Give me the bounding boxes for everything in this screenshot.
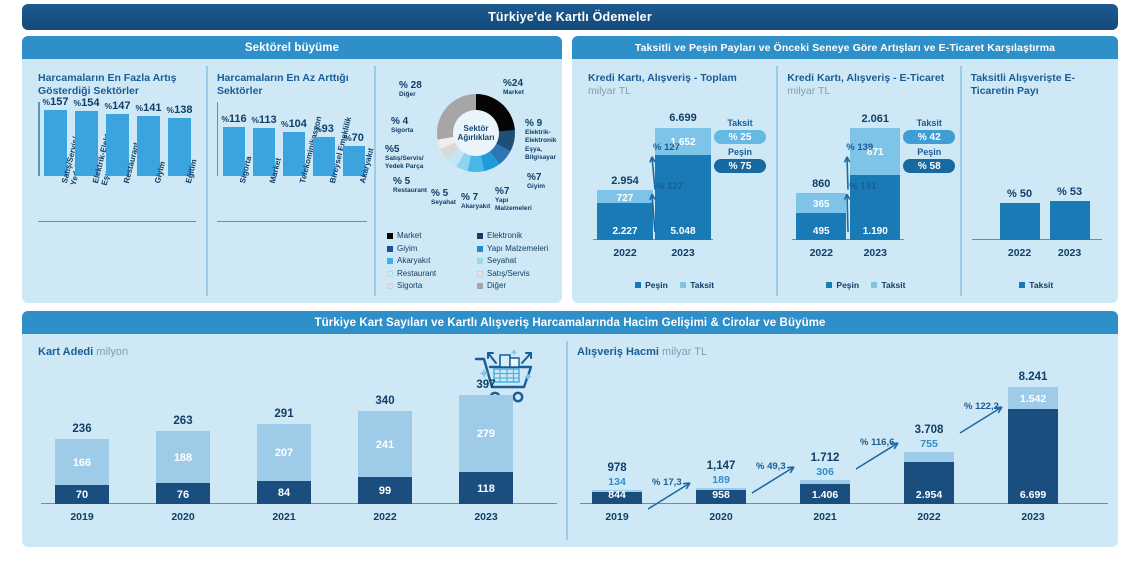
segment-label-credit: 958 (696, 489, 746, 501)
donut-legend-item: Sigorta (387, 280, 477, 293)
percent-sign: % (344, 133, 352, 143)
badge-caption-taksit: Taksit (711, 118, 769, 129)
total-label: 8.241 (998, 371, 1068, 383)
legend-taksit: Taksit (680, 280, 714, 290)
legend-swatch (477, 271, 483, 277)
donut-legend-item: Diğer (477, 280, 567, 293)
percent-sign: % (314, 124, 322, 134)
donut-legend-item: Seyahat (477, 255, 567, 268)
segment-label-credit: 70 (55, 489, 109, 501)
badge-value-taksit: % 25 (714, 130, 766, 144)
card-shopping-volume-title: Alışveriş Hacmi milyar TL (577, 346, 1107, 359)
x-tick-label: 2023 (844, 247, 906, 259)
percent-sign: % (251, 115, 259, 125)
card-sector-weights: Sektör Ağırlıkları %24Market% 9Elektrik-… (374, 66, 555, 296)
shopping-volume-unit: milyar TL (662, 346, 707, 358)
badge-caption-pesin: Peşin (711, 147, 769, 158)
percent-sign: % (74, 98, 82, 108)
bottom-band-title: Türkiye Kart Sayıları ve Kartlı Alışveri… (22, 311, 1118, 334)
credit-ecom-title-text: Kredi Kartı, Alışveriş - E-Ticaret (787, 72, 944, 84)
credit-total-title-text: Kredi Kartı, Alışveriş - Toplam (588, 72, 737, 84)
donut-legend-label: Seyahat (487, 255, 516, 268)
card-most-increase-title: Harcamaların En Fazla Artış Gösterdiği S… (38, 72, 194, 98)
donut-legend-label: Restaurant (397, 268, 436, 281)
card-count-unit: milyon (96, 346, 128, 358)
card-least-increase: Harcamaların En Az Arttığı Sektörler %11… (206, 66, 368, 296)
segment-label-credit: 99 (358, 485, 412, 497)
donut-label-value: % 7 (461, 192, 478, 203)
x-tick-label: 2019 (578, 511, 656, 523)
legend-swatch (477, 258, 483, 264)
segment-label-debit: 207 (257, 447, 311, 459)
x-tick-label: 2019 (43, 511, 121, 523)
segment-label-pesin: 495 (796, 226, 846, 237)
segment-label-credit: 118 (459, 483, 513, 495)
total-label: 340 (350, 395, 420, 407)
total-label: 2.954 (591, 175, 659, 187)
bar-value-label: %138 (159, 104, 200, 116)
legend-swatch (477, 246, 483, 252)
chart-least-increase: %116Sigorta%113Market%104Telekominikasyo… (217, 102, 367, 222)
y-axis (38, 102, 40, 176)
growth-label: % 17,3 (652, 477, 682, 488)
bottom-row: Türkiye Kart Sayıları ve Kartlı Alışveri… (22, 311, 1118, 547)
total-label: 6.699 (649, 112, 717, 124)
card-least-increase-title: Harcamaların En Az Arttığı Sektörler (217, 72, 362, 98)
shopping-volume-title-text: Alışveriş Hacmi (577, 346, 659, 358)
sectoral-growth-block: Sektörel büyüme Harcamaların En Fazla Ar… (22, 36, 562, 303)
donut-legend-label: Diğer (487, 280, 506, 293)
segment-label-debit: 241 (358, 439, 412, 451)
segment-label-debit: 755 (904, 438, 954, 450)
card-credit-ecommerce-title: Kredi Kartı, Alışveriş - E-Ticaret milya… (787, 72, 947, 98)
growth-label: % 116,6 (860, 437, 894, 448)
donut-legend-item: Restaurant (387, 268, 477, 281)
segment-label-credit: 844 (592, 489, 642, 501)
card-card-count: Kart Adedi milyon (29, 341, 560, 540)
donut-label-name: Seyahat (431, 199, 456, 208)
donut-label-name: Diğer (399, 91, 422, 100)
total-label: 1,147 (686, 460, 756, 472)
donut-label: % 5Seyahat (431, 188, 456, 207)
percent-sign: % (105, 101, 113, 111)
x-tick-label: 2023 (649, 247, 717, 259)
segment-label-debit: 1.542 (1008, 393, 1058, 405)
total-label: 1.712 (790, 452, 860, 464)
x-tick-label: 2023 (994, 511, 1072, 523)
x-axis (38, 221, 196, 223)
donut-legend-label: Giyim (397, 243, 417, 256)
legend-swatch (387, 246, 393, 252)
bottom-body: Kart Adedi milyon (22, 334, 1118, 547)
card-shopping-volume: Alışveriş Hacmi milyar TL 84413497820199… (566, 341, 1111, 540)
legend-credit-ecommerce: Peşin Taksit (778, 280, 953, 290)
dashboard-title: Türkiye'de Kartlı Ödemeler (22, 4, 1118, 30)
growth-label-pesin: % 127 (656, 181, 683, 192)
donut-label: %24Market (503, 78, 524, 97)
donut-legend-item: Market (387, 230, 477, 243)
donut-label-name: Restaurant (393, 187, 427, 196)
badge-caption-taksit-2: Taksit (900, 118, 958, 129)
total-label: 860 (790, 178, 852, 190)
card-count-title-text: Kart Adedi (38, 346, 93, 358)
percent-sign: % (281, 119, 289, 129)
donut-label-name: Sigorta (391, 127, 413, 136)
x-tick-label: 2021 (245, 511, 323, 523)
legend-pesin-2: Peşin (826, 280, 859, 290)
segment-label-debit: 134 (592, 476, 642, 488)
card-ecommerce-share-title: Taksitli Alışverişte E-Ticaretin Payı (971, 72, 1105, 98)
top-row: Sektörel büyüme Harcamaların En Fazla Ar… (22, 36, 1118, 303)
donut-center-label: Sektör Ağırlıkları (453, 110, 499, 156)
x-tick-label: 2020 (682, 511, 760, 523)
total-label: 291 (249, 408, 319, 420)
card-ecommerce-share: Taksitli Alışverişte E-Ticaretin Payı % … (960, 66, 1111, 296)
credit-ecom-unit: milyar TL (787, 85, 830, 97)
donut-label-name: Satış/Servis/Yedek Parça (385, 155, 424, 172)
donut-label-value: % 5 (431, 188, 448, 199)
donut-label: % 7Akaryakıt (461, 192, 490, 211)
donut-legend-label: Sigorta (397, 280, 422, 293)
card-most-increase: Harcamaların En Fazla Artış Gösterdiği S… (29, 66, 200, 296)
percent-sign: % (136, 103, 144, 113)
credit-total-badges: Taksit % 25 Peşin % 75 (711, 118, 769, 176)
badge-value-pesin: % 75 (714, 159, 766, 173)
badge-caption-pesin-2: Peşin (900, 147, 958, 158)
card-credit-total-title: Kredi Kartı, Alışveriş - Toplam milyar T… (588, 72, 764, 98)
donut-legend-item: Giyim (387, 243, 477, 256)
chart-sector-weights: Sektör Ağırlıkları %24Market% 9Elektrik-… (385, 72, 565, 304)
legend-taksit-2: Taksit (871, 280, 905, 290)
donut-legend-item: Akaryakıt (387, 255, 477, 268)
x-tick-label: 2020 (144, 511, 222, 523)
segment-label-debit: 188 (156, 452, 210, 464)
donut-label-value: % 5 (393, 176, 410, 187)
donut-label: % 4Sigorta (391, 116, 413, 135)
x-tick-label: 2021 (786, 511, 864, 523)
x-tick-label: 2022 (994, 247, 1046, 259)
chart-credit-total: 2.2277272.95420225.0481.6526.6992023% 12… (593, 114, 713, 266)
growth-label: % 49,3 (756, 461, 786, 472)
donut-legend: MarketElektronikGiyimYapı MalzemeleriAka… (387, 230, 567, 293)
segment-label-pesin: 5.048 (655, 226, 711, 237)
legend-swatch (387, 271, 393, 277)
segment-label-debit: 166 (55, 457, 109, 469)
growth-label-taksit: % 127 (653, 142, 680, 153)
growth-label: % 122,2 (964, 401, 999, 412)
donut-label-value: %7 (527, 172, 541, 183)
donut-label-name: Akaryakıt (461, 203, 490, 212)
percent-sign: % (43, 97, 51, 107)
legend-swatch (387, 283, 393, 289)
badge-value-taksit-2: % 42 (903, 130, 955, 144)
growth-label-pesin: % 141 (849, 181, 876, 192)
total-label: 236 (47, 423, 117, 435)
donut-legend-label: Akaryakıt (397, 255, 430, 268)
installment-block: Taksitli ve Peşin Payları ve Önceki Sene… (572, 36, 1118, 303)
x-axis (217, 221, 367, 223)
donut-label-name: Market (503, 89, 524, 98)
legend-swatch (387, 233, 393, 239)
donut-label-value: %7 (495, 186, 509, 197)
legend-swatch (387, 258, 393, 264)
bar (1000, 203, 1040, 240)
percent-sign: % (221, 114, 229, 124)
donut-label: % 9Elektrik-ElektronikEşya,Bilgisayar (525, 118, 556, 163)
donut-label: %7YapıMalzemeleri (495, 186, 532, 214)
donut-label-name: Elektrik-ElektronikEşya,Bilgisayar (525, 129, 556, 163)
chart-card-count: 7016623620197618826320208420729120219924… (41, 383, 557, 528)
x-tick-label: 2022 (890, 511, 968, 523)
donut-legend-label: Satış/Servis (487, 268, 530, 281)
card-credit-total: Kredi Kartı, Alışveriş - Toplam milyar T… (579, 66, 770, 296)
bar-value-label: % 53 (1044, 186, 1096, 198)
donut-center-line1: Sektör (464, 124, 489, 134)
donut-legend-label: Yapı Malzemeleri (487, 243, 548, 256)
legend-pesin: Peşin (635, 280, 668, 290)
segment-label-credit: 76 (156, 489, 210, 501)
bar (1050, 201, 1090, 240)
legend-taksit-3: Taksit (1019, 280, 1053, 290)
bar-value-label: % 50 (994, 188, 1046, 200)
donut-label-value: % 4 (391, 116, 408, 127)
legend-ecommerce-share: Taksit (962, 280, 1111, 290)
segment-label-debit: 279 (459, 428, 513, 440)
legend-swatch (477, 233, 483, 239)
segment-label-credit: 2.954 (904, 489, 954, 501)
donut-center-line2: Ağırlıkları (458, 133, 495, 143)
segment-label-pesin: 1.190 (850, 226, 900, 237)
dashboard-page: Türkiye'de Kartlı Ödemeler Sektörel büyü… (0, 0, 1140, 570)
segment-label-debit: 189 (696, 474, 746, 486)
bar-segment-debit (904, 452, 954, 463)
sectoral-band-title: Sektörel büyüme (22, 36, 562, 59)
donut-label-name: YapıMalzemeleri (495, 197, 532, 214)
legend-credit-total: Peşin Taksit (579, 280, 770, 290)
credit-ecom-badges: Taksit % 42 Peşin % 58 (900, 118, 958, 176)
donut-label: % 5Restaurant (393, 176, 427, 195)
total-label: 3.708 (894, 424, 964, 436)
legend-swatch (477, 283, 483, 289)
donut-label-value: % 28 (399, 80, 422, 91)
segment-label-pesin: 2.227 (597, 226, 653, 237)
donut-label-value: % 9 (525, 118, 542, 129)
total-label: 397 (451, 379, 521, 391)
donut-label-value: %5 (385, 144, 399, 155)
total-label: 263 (148, 415, 218, 427)
segment-label-taksit: 365 (796, 199, 846, 210)
chart-credit-ecommerce: 49536586020221.1908712.0612023% 141% 139 (792, 114, 904, 266)
chart-ecommerce-share: % 502022% 532023 (972, 114, 1102, 266)
donut-label-value: %24 (503, 78, 523, 89)
donut-legend-label: Market (397, 230, 421, 243)
badge-value-pesin-2: % 58 (903, 159, 955, 173)
donut-legend-item: Yapı Malzemeleri (477, 243, 567, 256)
segment-label-credit: 6.699 (1008, 489, 1058, 501)
x-tick-label: 2023 (447, 511, 525, 523)
x-tick-label: 2022 (346, 511, 424, 523)
percent-sign: % (167, 105, 175, 115)
segment-label-credit: 1.406 (800, 489, 850, 501)
donut-label: % 28Diğer (399, 80, 422, 99)
donut-legend-item: Elektronik (477, 230, 567, 243)
donut-legend-label: Elektronik (487, 230, 522, 243)
segment-label-credit: 84 (257, 487, 311, 499)
donut-legend-item: Satış/Servis (477, 268, 567, 281)
segment-label-taksit: 727 (597, 193, 653, 204)
total-label: 2.061 (844, 113, 906, 125)
bar-value-label: %70 (334, 132, 374, 144)
growth-label-taksit: % 139 (846, 142, 873, 153)
donut-label: %5Satış/Servis/Yedek Parça (385, 144, 424, 172)
credit-total-unit: milyar TL (588, 85, 631, 97)
installment-band-title: Taksitli ve Peşin Payları ve Önceki Sene… (572, 36, 1118, 59)
segment-label-debit: 306 (800, 466, 850, 478)
bar-segment-debit (800, 480, 850, 484)
total-label: 978 (582, 462, 652, 474)
chart-most-increase: %157Satış/Servis/Yedek Parça%154Elektrik… (38, 102, 196, 222)
card-credit-ecommerce: Kredi Kartı, Alışveriş - E-Ticaret milya… (776, 66, 953, 296)
x-tick-label: 2023 (1044, 247, 1096, 259)
chart-shopping-volume: 84413497820199581891,14720201.4063061.71… (580, 371, 1108, 528)
x-tick-label: 2022 (790, 247, 852, 259)
